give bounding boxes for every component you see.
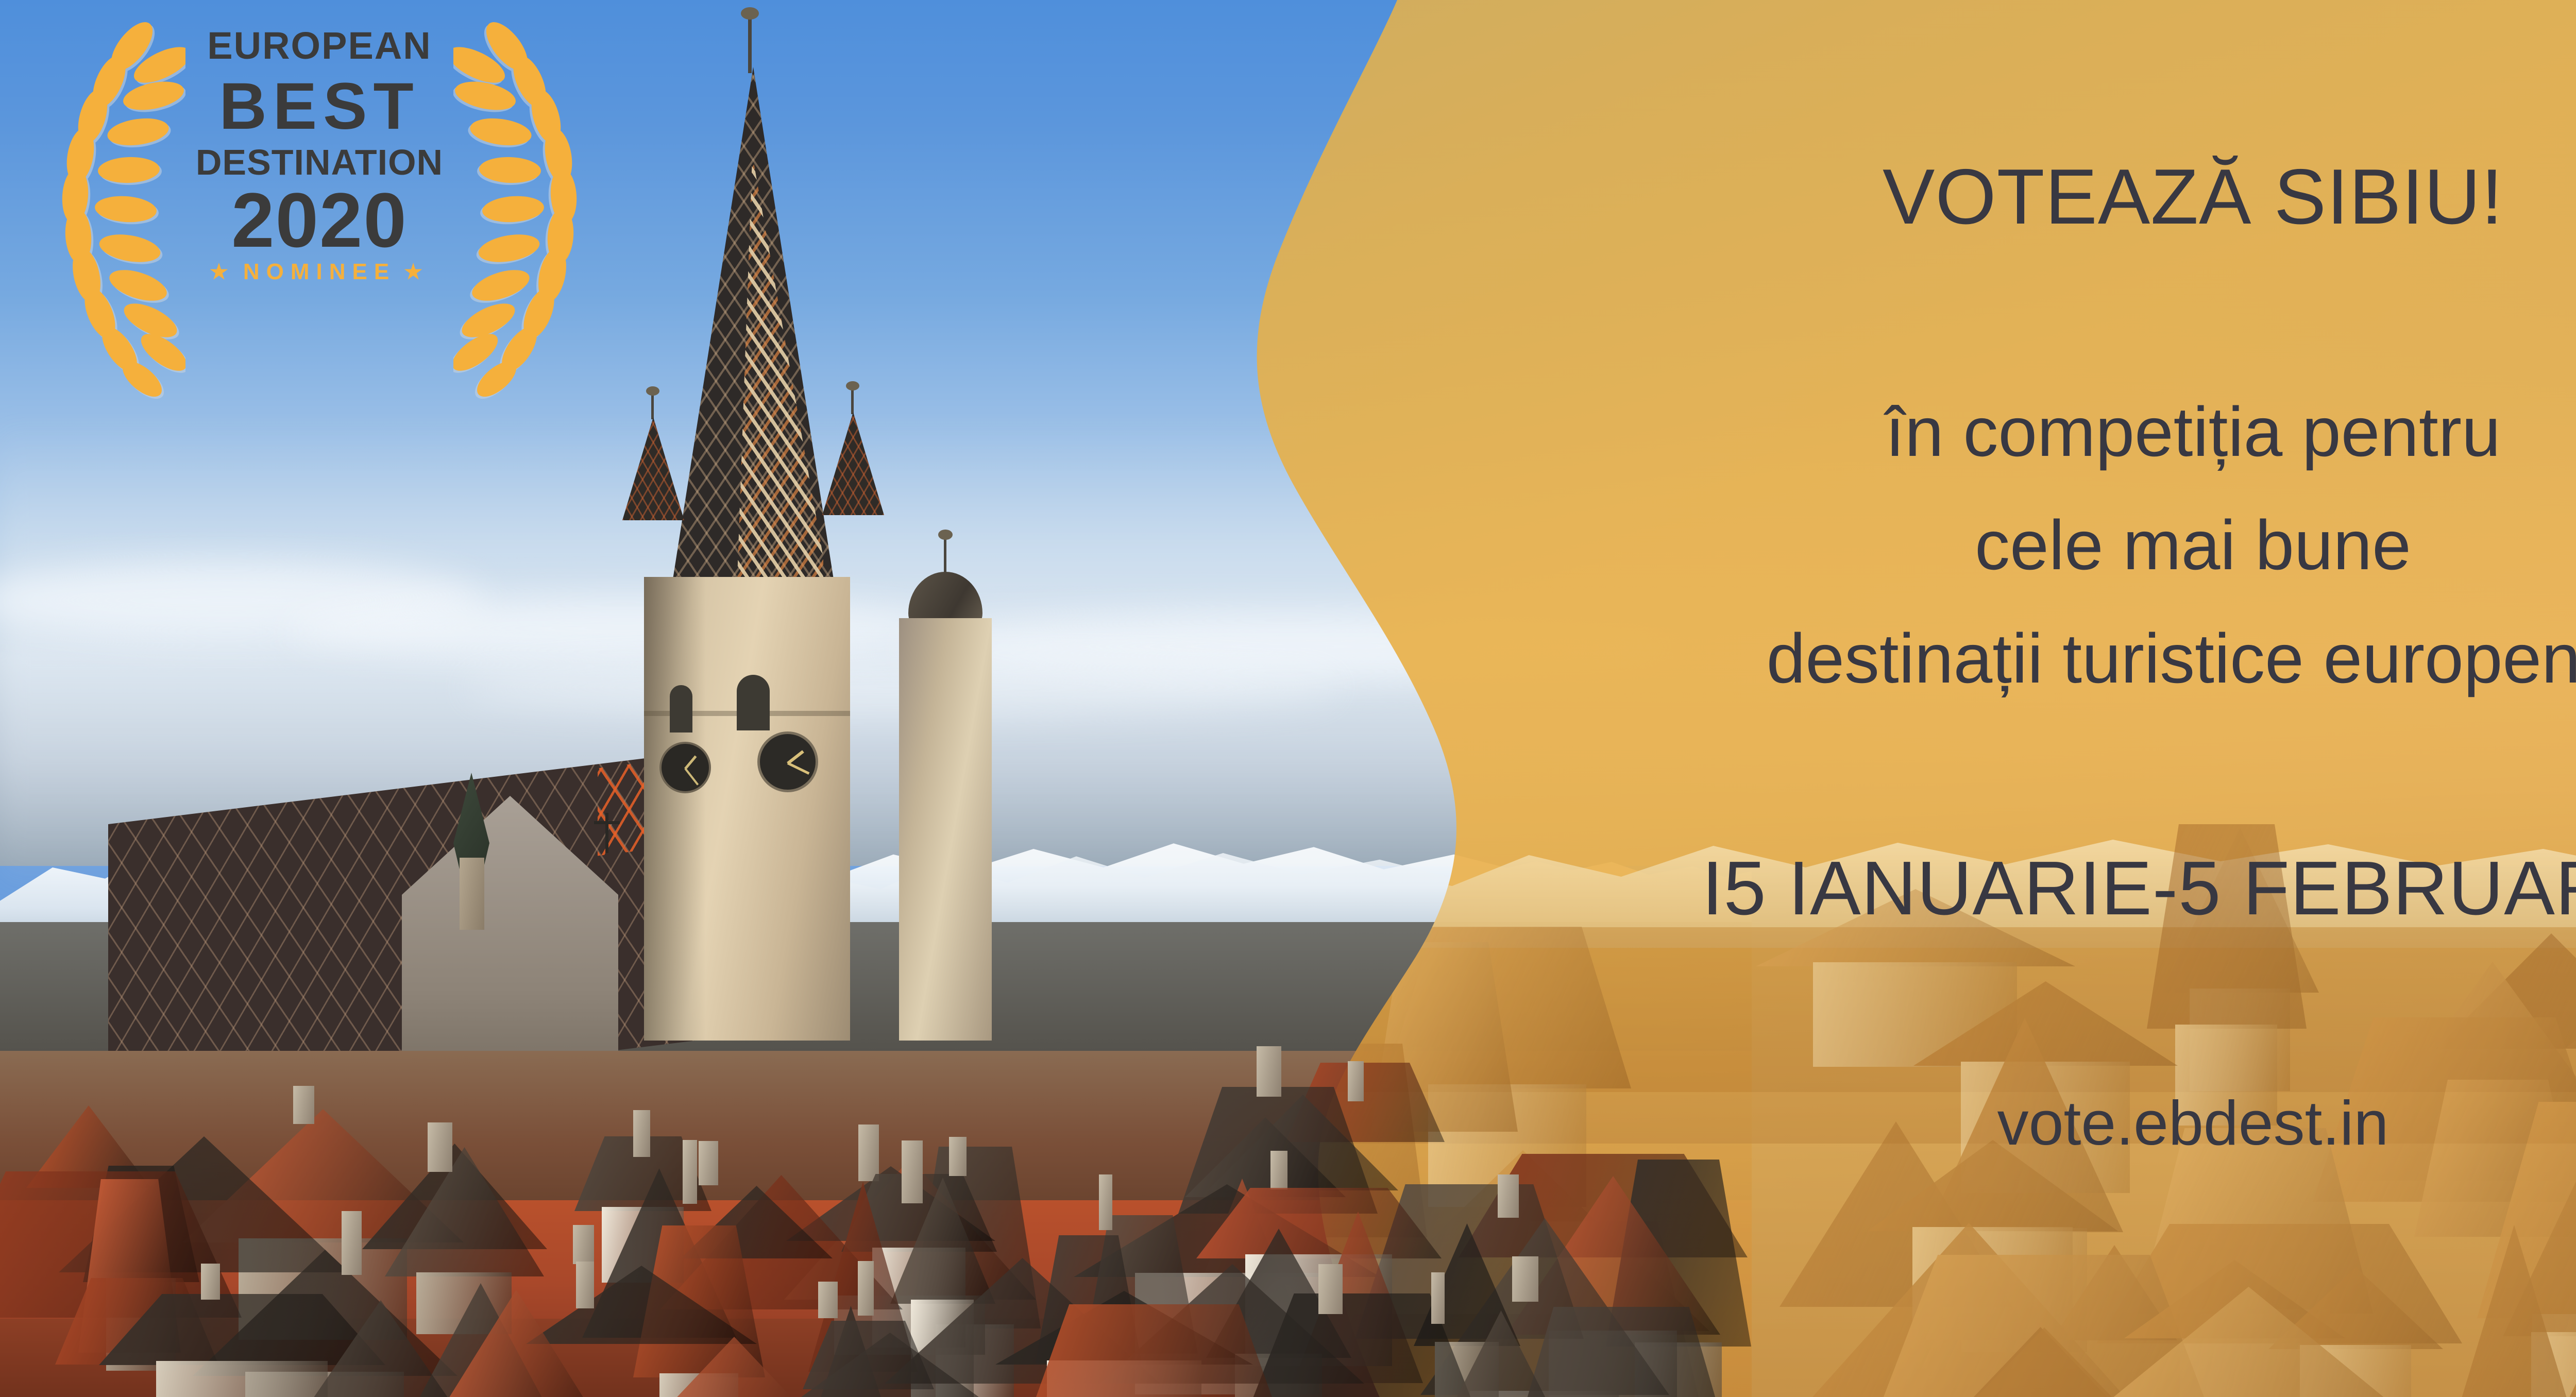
star-left-icon: ★ xyxy=(210,262,235,282)
chimney xyxy=(1270,1151,1287,1189)
chimney xyxy=(949,1137,967,1176)
vote-url[interactable]: vote.ebdest.in xyxy=(1535,1087,2576,1159)
chimney xyxy=(1348,1061,1364,1101)
voting-dates: I5 IANUARIE-5 FEBRUARIE xyxy=(1535,845,2576,932)
chimney xyxy=(201,1264,220,1300)
badge-text-block: EUROPEAN BEST DESTINATION 2020 ★ NOMINEE… xyxy=(170,15,469,283)
chimney xyxy=(1431,1272,1445,1324)
chimney xyxy=(1099,1174,1112,1230)
chimney xyxy=(1257,1046,1281,1097)
cloud xyxy=(289,598,958,659)
chimney xyxy=(293,1086,314,1124)
laurel-wreath-right-icon xyxy=(453,15,608,407)
chimney xyxy=(699,1141,718,1185)
chimney xyxy=(342,1211,362,1275)
badge-nominee-row: ★ NOMINEE ★ xyxy=(170,261,469,283)
roof-cross-icon xyxy=(605,813,608,853)
chimney xyxy=(573,1225,594,1264)
tower-shadow xyxy=(644,577,706,1041)
chimney xyxy=(1512,1256,1538,1302)
chimney xyxy=(858,1261,874,1316)
badge-line-destination: DESTINATION xyxy=(170,144,469,180)
steeple-finial xyxy=(748,15,752,73)
chimney xyxy=(633,1110,650,1157)
chimney xyxy=(683,1140,697,1204)
promo-banner: EUROPEAN BEST DESTINATION 2020 ★ NOMINEE… xyxy=(0,0,2576,1397)
cathedral-turret xyxy=(622,417,684,587)
tower-clock xyxy=(659,742,711,793)
onion-church-tower xyxy=(899,618,992,1041)
chimney xyxy=(1318,1264,1343,1314)
chimney xyxy=(858,1125,879,1181)
tower-clock xyxy=(757,731,818,792)
building-wall xyxy=(156,1361,328,1397)
badge-line-best: BEST xyxy=(170,72,469,141)
chimney xyxy=(1498,1174,1519,1218)
belfry-window xyxy=(737,675,770,730)
body-line-2: cele mai bune xyxy=(1535,505,2576,585)
body-line-1: în competiția pentru xyxy=(1535,391,2576,472)
belfry-window xyxy=(670,685,692,732)
laurel-wreath-left-icon xyxy=(31,15,185,407)
badge-line-european: EUROPEAN xyxy=(170,27,469,65)
chimney xyxy=(576,1262,594,1308)
cathedral-turret xyxy=(822,412,884,582)
body-line-3: destinații turistice europene xyxy=(1535,618,2576,698)
european-best-destination-badge: EUROPEAN BEST DESTINATION 2020 ★ NOMINEE… xyxy=(21,15,618,433)
headline: VOTEAZĂ SIBIU! xyxy=(1535,152,2576,242)
chimney xyxy=(902,1140,923,1203)
chimney xyxy=(818,1282,838,1318)
badge-year: 2020 xyxy=(170,181,469,259)
chimney xyxy=(428,1122,452,1172)
badge-status: NOMINEE xyxy=(243,261,396,283)
star-right-icon: ★ xyxy=(404,262,429,282)
onion-dome-spike xyxy=(944,536,946,576)
small-church-body xyxy=(460,858,484,930)
